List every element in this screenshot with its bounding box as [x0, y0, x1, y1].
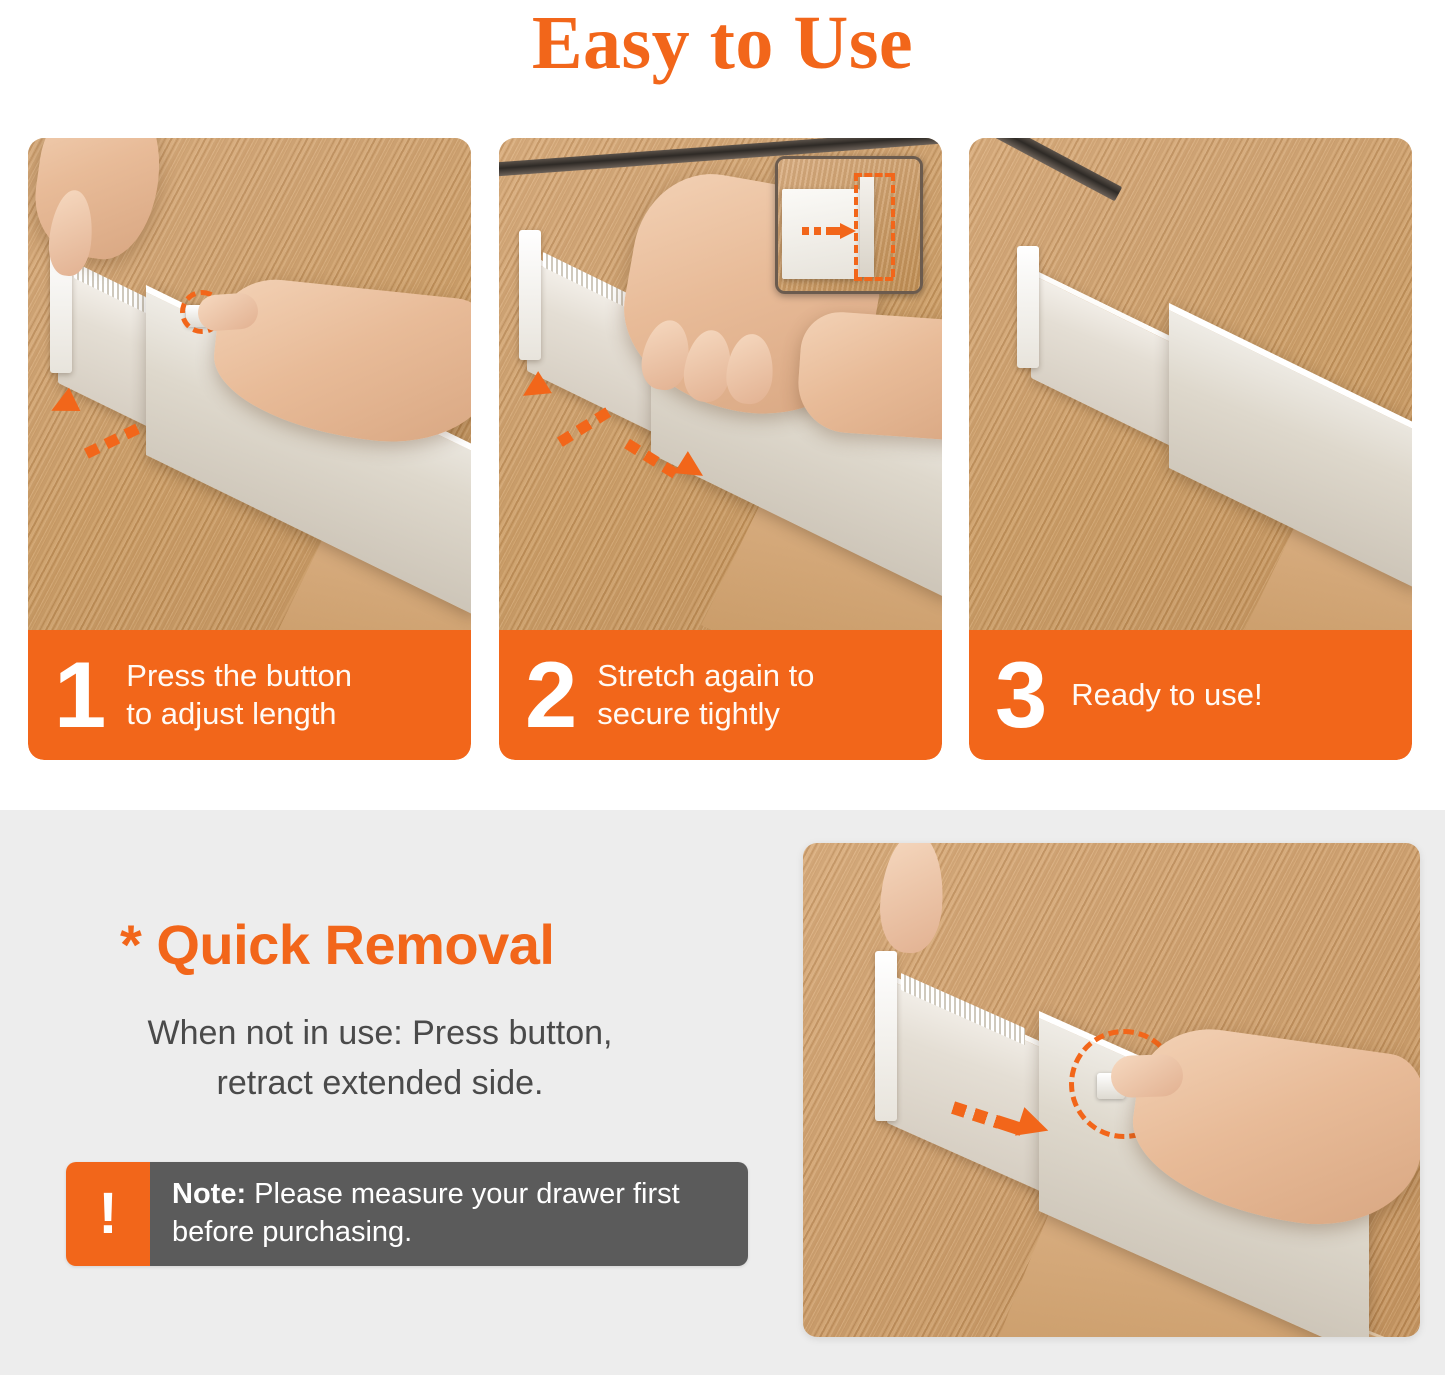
divider-end-cap-left [519, 230, 541, 360]
note-text: Note: Please measure your drawer first b… [150, 1162, 748, 1266]
page-title: Easy to Use [0, 2, 1445, 84]
step-2-caption: 2 Stretch again to secure tightly [499, 630, 942, 760]
step-2-photo [499, 138, 942, 630]
inset-dashed-line-bottom [854, 277, 893, 281]
quick-removal-body-line1: When not in use: Press button, [60, 1008, 700, 1058]
step-2-number: 2 [525, 648, 577, 742]
step-3-text-line1: Ready to use! [1071, 676, 1412, 714]
step-1-photo [28, 138, 471, 630]
exclamation-mark-icon: ! [66, 1162, 150, 1266]
quick-removal-heading: * Quick Removal [120, 912, 554, 977]
quick-removal-body-line2: retract extended side. [60, 1058, 700, 1108]
easy-to-use-section: Easy to Use [0, 0, 1445, 810]
note-label: Note: [172, 1178, 246, 1210]
step-1-number: 1 [54, 648, 106, 742]
inset-arrow-tail [802, 227, 830, 235]
step-1-caption: 1 Press the button to adjust length [28, 630, 471, 760]
step-2-text: Stretch again to secure tightly [597, 657, 942, 733]
step-2-inset-diagram [775, 156, 923, 294]
step-1-text-line1: Press the button [126, 657, 471, 695]
step-panel-3: 3 Ready to use! [969, 138, 1412, 760]
quick-removal-body: When not in use: Press button, retract e… [60, 1008, 700, 1108]
forearm [795, 310, 942, 443]
step-panel-1: 1 Press the button to adjust length [28, 138, 471, 760]
step-3-caption: 3 Ready to use! [969, 630, 1412, 760]
note-banner: ! Note: Please measure your drawer first… [66, 1162, 748, 1266]
quick-removal-photo [803, 843, 1420, 1337]
inset-arrow-head [840, 223, 856, 239]
divider-end-cap-left [875, 951, 897, 1121]
step-1-text: Press the button to adjust length [126, 657, 471, 733]
divider-end-cap-left [1017, 246, 1039, 368]
step-panel-2: 2 Stretch again to secure tightly [499, 138, 942, 760]
step-1-text-line2: to adjust length [126, 695, 471, 733]
step-2-text-line1: Stretch again to [597, 657, 942, 695]
inset-dashed-line-top [854, 173, 893, 177]
infographic-page: Easy to Use [0, 0, 1445, 1375]
finger-right-index [197, 292, 259, 332]
step-3-photo [969, 138, 1412, 630]
finger-pressing [1110, 1054, 1183, 1098]
note-message: Please measure your drawer first before … [172, 1178, 680, 1248]
step-3-number: 3 [995, 648, 1047, 742]
inset-drawer-wall [860, 177, 874, 277]
step-2-text-line2: secure tightly [597, 695, 942, 733]
step-3-text: Ready to use! [1071, 676, 1412, 714]
inset-dashed-line-far [891, 173, 895, 277]
